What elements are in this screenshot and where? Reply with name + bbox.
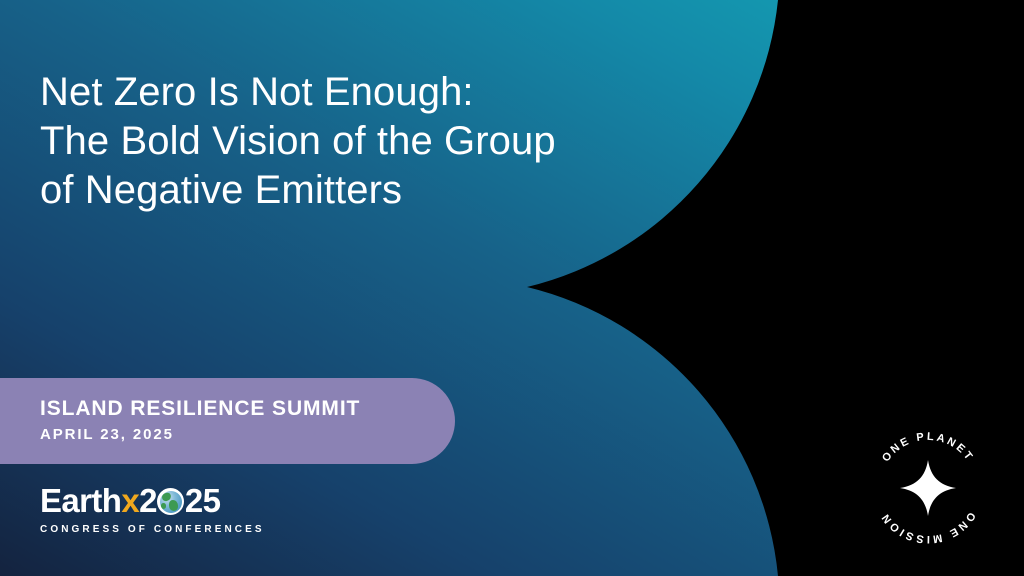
event-name: ISLAND RESILIENCE SUMMIT — [40, 396, 455, 421]
sparkle-star-icon — [900, 460, 956, 516]
globe-icon — [157, 488, 184, 515]
title-card: Net Zero Is Not Enough: The Bold Vision … — [0, 0, 1024, 576]
globe-landmass — [161, 503, 167, 509]
title-line-2: The Bold Vision of the Group — [40, 117, 700, 166]
earthx-logo: Earthx225 CONGRESS OF CONFERENCES — [40, 483, 265, 536]
logo-year-prefix: 2 — [139, 482, 157, 519]
event-date: APRIL 23, 2025 — [40, 424, 455, 445]
one-planet-one-mission-seal: ONE PLANET ONE MISSION — [866, 426, 990, 550]
globe-landmass — [169, 500, 179, 511]
logo-word-earth: Earth — [40, 482, 121, 519]
seal-text-top-path: ONE PLANET — [880, 431, 976, 464]
logo-year-suffix: 25 — [185, 482, 221, 519]
title-line-3: of Negative Emitters — [40, 166, 700, 215]
logo-tagline: CONGRESS OF CONFERENCES — [40, 524, 265, 536]
globe-sphere — [160, 491, 182, 513]
title-line-1: Net Zero Is Not Enough: — [40, 68, 700, 117]
logo-letter-x: x — [121, 482, 139, 519]
logo-wordmark: Earthx225 — [40, 483, 265, 519]
seal-text-top: ONE PLANET — [880, 431, 976, 464]
page-title: Net Zero Is Not Enough: The Bold Vision … — [40, 68, 700, 215]
event-pill-badge: ISLAND RESILIENCE SUMMIT APRIL 23, 2025 — [0, 378, 455, 464]
